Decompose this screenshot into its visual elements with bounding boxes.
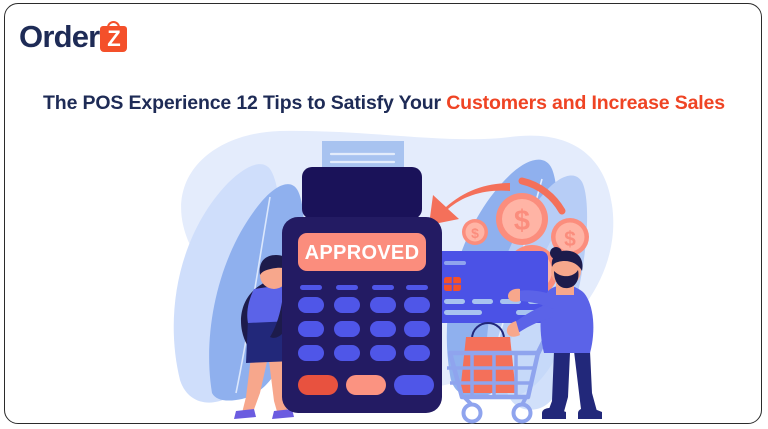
coin-small: $ xyxy=(462,219,488,245)
page-title-highlight: Customers and Increase Sales xyxy=(446,92,725,114)
svg-text:$: $ xyxy=(471,225,479,241)
page-title-primary: The POS Experience 12 Tips to Satisfy Yo… xyxy=(43,92,446,114)
page-root: Order Z The POS Experience 12 Tips to Sa… xyxy=(0,0,768,429)
svg-text:$: $ xyxy=(564,228,576,251)
logo-bag-letter: Z xyxy=(100,26,127,52)
logo-wordmark: Order xyxy=(19,21,99,52)
pos-screen-approved: APPROVED xyxy=(298,233,426,271)
pos-action-buttons xyxy=(298,375,434,395)
coin-large: $ xyxy=(496,193,548,245)
brand-logo[interactable]: Order Z xyxy=(19,12,127,52)
svg-text:APPROVED: APPROVED xyxy=(305,242,420,264)
svg-text:$: $ xyxy=(514,205,530,237)
page-title: The POS Experience 12 Tips to Satisfy Yo… xyxy=(0,91,768,116)
card-chip-icon xyxy=(444,277,461,291)
pos-printer-neck xyxy=(302,167,422,219)
shopping-bag-icon: Z xyxy=(100,21,127,52)
hero-illustration: $ $ $ $ xyxy=(150,125,620,425)
pos-terminal: APPROVED xyxy=(282,217,442,413)
